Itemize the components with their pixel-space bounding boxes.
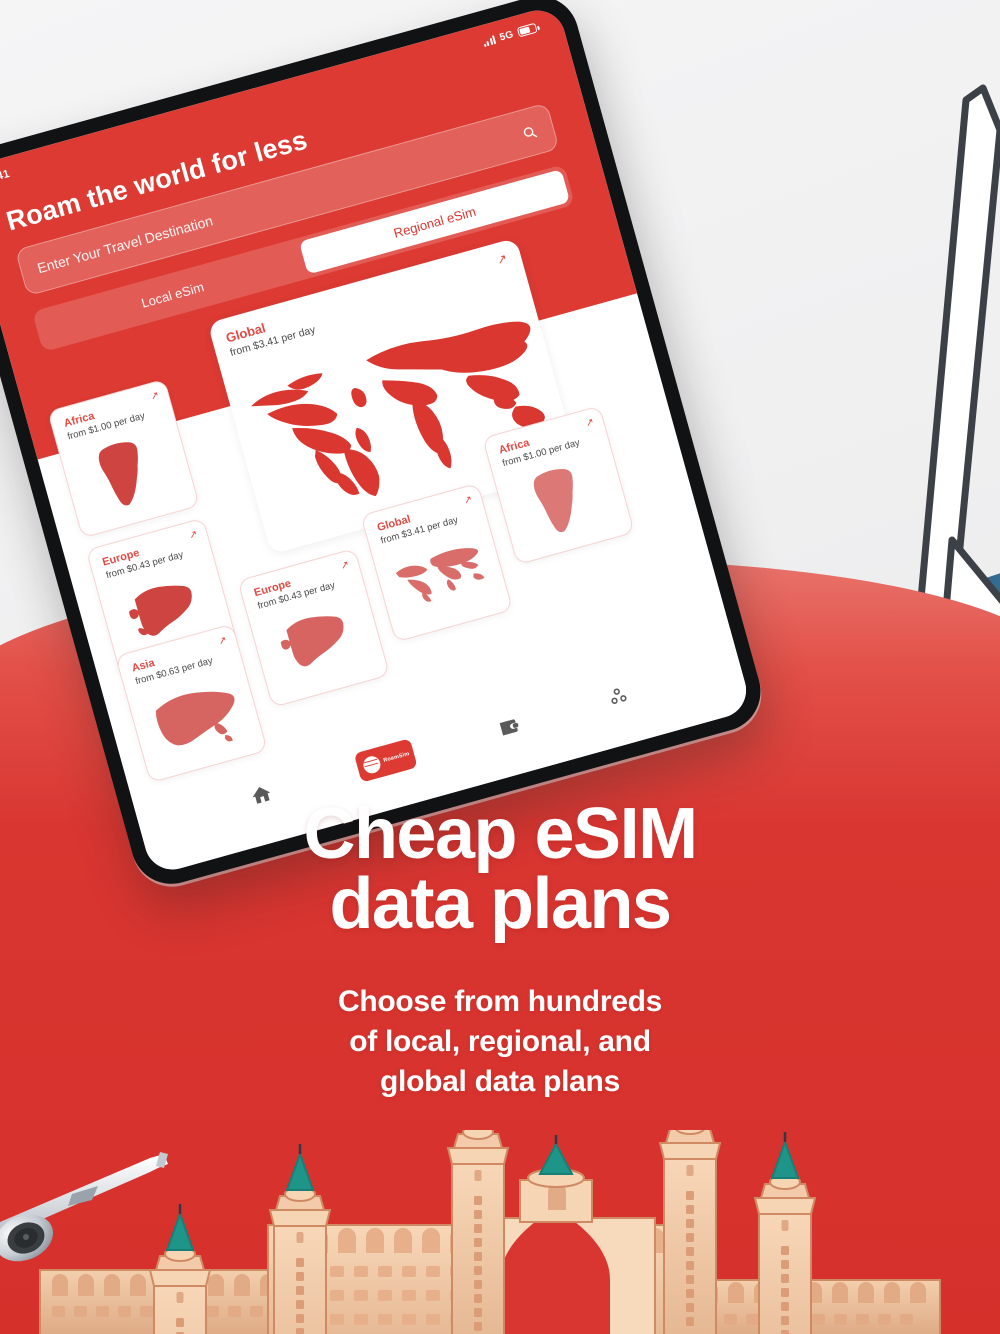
subhead-line-2: of local, regional, and (0, 1022, 1000, 1062)
arrow-up-right-icon: ↗ (149, 390, 160, 403)
more-dots-icon[interactable] (602, 680, 634, 712)
arrow-up-right-icon: ↗ (340, 559, 351, 572)
headline-line-2: data plans (0, 870, 1000, 940)
arrow-up-right-icon: ↗ (584, 417, 595, 430)
arrow-up-right-icon: ↗ (463, 494, 474, 507)
promo-screenshot: 9:41 5G Roam the world for less Enter Yo… (0, 0, 1000, 1334)
page-subheadline: Choose from hundreds of local, regional,… (0, 982, 1000, 1102)
headline-line-1: Cheap eSIM (0, 800, 1000, 870)
wallet-icon[interactable] (493, 710, 525, 742)
brand-logo-label: RoamSim (383, 751, 410, 764)
subhead-line-3: global data plans (0, 1062, 1000, 1102)
status-time: 9:41 (0, 168, 11, 186)
airplane-wing-icon (0, 1142, 192, 1272)
battery-icon (517, 23, 538, 38)
search-icon[interactable] (520, 123, 538, 141)
globe-glyph (361, 754, 382, 775)
plan-card-europe-2[interactable]: ↗ Europe from $0.43 per day (237, 548, 390, 708)
arrow-up-right-icon: ↗ (217, 635, 228, 648)
network-label: 5G (498, 29, 514, 43)
signal-bars-icon (482, 35, 496, 47)
subhead-line-1: Choose from hundreds (0, 982, 1000, 1022)
page-headline: Cheap eSIM data plans (0, 800, 1000, 940)
brand-logo-icon[interactable]: RoamSim (354, 738, 418, 782)
arrow-up-right-icon: ↗ (188, 529, 199, 542)
